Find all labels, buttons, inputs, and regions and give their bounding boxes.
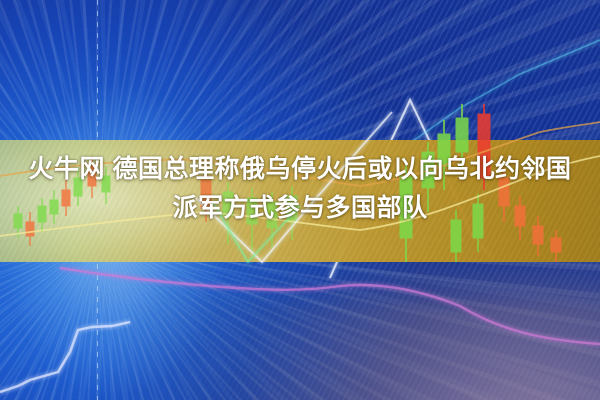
news-banner-image: 火牛网 德国总理称俄乌停火后或以向乌北约邻国 派军方式参与多国部队: [0, 0, 600, 400]
headline-text: 火牛网 德国总理称俄乌停火后或以向乌北约邻国 派军方式参与多国部队: [0, 150, 600, 228]
headline-line-1: 火牛网 德国总理称俄乌停火后或以向乌北约邻国: [0, 150, 600, 189]
headline-line-2: 派军方式参与多国部队: [0, 189, 600, 228]
